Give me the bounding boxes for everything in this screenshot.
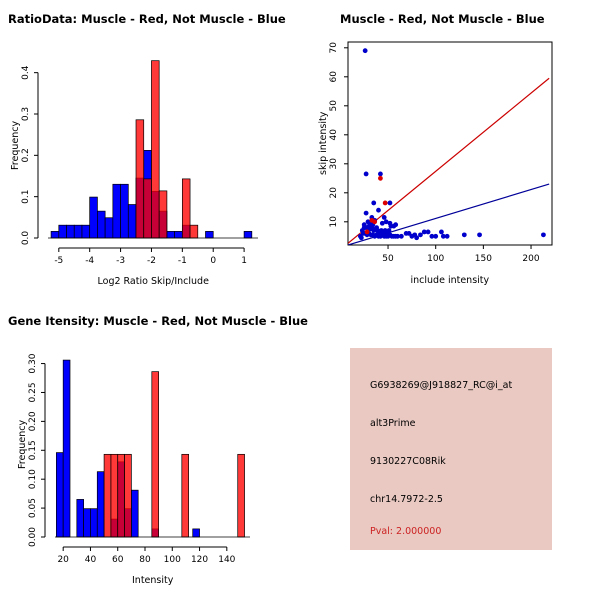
tick-label: -4 [85, 256, 94, 266]
scatter-point [387, 228, 392, 233]
scatter-canvas: 1020304050607050100150200 [300, 0, 600, 300]
scatter-point [364, 211, 369, 216]
histogram-bar [82, 225, 90, 238]
tick-label: 80 [139, 555, 151, 565]
panel-intensity-scatter: Muscle - Red, Not Muscle - Blue 10203040… [300, 0, 600, 300]
ratio-histogram-ylabel: Frequency [10, 120, 21, 169]
tick-label: 120 [191, 555, 208, 565]
histogram-bar [131, 490, 138, 537]
histogram-bar [244, 231, 252, 238]
histogram-bar [97, 472, 104, 537]
tick-label: 10 [329, 216, 339, 228]
tick-label: 0.10 [28, 469, 38, 489]
tick-label: 140 [218, 555, 235, 565]
histogram-bar [128, 205, 136, 238]
info-line-event-type: alt3Prime [370, 418, 415, 429]
tick-label: 30 [329, 158, 339, 170]
histogram-bar [182, 179, 190, 238]
tick-label: 0.4 [21, 65, 31, 80]
scatter-xlabel: include intensity [411, 275, 490, 286]
panel-ratio-histogram: RatioData: Muscle - Red, Not Muscle - Bl… [0, 0, 300, 300]
histogram-bar [74, 225, 82, 238]
tick-label: 70 [329, 42, 339, 54]
tick-label: 0.15 [28, 440, 38, 460]
tick-label: 60 [112, 555, 124, 565]
tick-label: 50 [382, 254, 394, 264]
tick-label: 0.20 [28, 411, 38, 431]
scatter-point [359, 235, 364, 240]
scatter-point [374, 225, 379, 230]
tick-label: -1 [178, 256, 187, 266]
tick-label: 20 [57, 555, 69, 565]
ratio-histogram-xlabel: Log2 Ratio Skip/Include [98, 276, 209, 287]
tick-label: 0.0 [21, 231, 31, 246]
scatter-point [433, 234, 438, 239]
tick-label: 0.00 [28, 527, 38, 547]
histogram-bar [159, 191, 167, 238]
scatter-point [360, 228, 365, 233]
histogram-bar [206, 231, 214, 238]
histogram-bar [51, 231, 59, 238]
scatter-point [541, 232, 546, 237]
tick-label: 50 [329, 100, 339, 112]
tick-label: 0.3 [21, 107, 31, 121]
tick-label: 0.1 [21, 190, 31, 204]
histogram-bar [175, 231, 183, 238]
ratio-histogram-canvas: 0.00.10.20.30.4-5-4-3-2-101 [0, 0, 300, 300]
scatter-point [362, 222, 367, 227]
histogram-bar [59, 225, 67, 238]
histogram-bar [111, 454, 118, 537]
tick-label: 0.05 [28, 498, 38, 518]
scatter-point [372, 219, 377, 224]
histogram-bar [144, 179, 152, 238]
histogram-bar [182, 454, 189, 537]
histogram-bar [193, 529, 200, 537]
histogram-bar [105, 218, 113, 238]
histogram-bar [167, 231, 175, 238]
histogram-bar [90, 197, 98, 238]
scatter-point [439, 230, 444, 235]
histogram-bar [104, 454, 111, 537]
histogram-bar [152, 372, 159, 537]
histogram-bar [56, 453, 63, 537]
tick-label: 200 [522, 254, 539, 264]
scatter-ylabel: skip intensity [318, 112, 329, 175]
tick-label: -2 [147, 256, 156, 266]
tick-label: 150 [475, 254, 492, 264]
tick-label: 1 [241, 256, 247, 266]
tick-label: 0 [210, 256, 216, 266]
scatter-point [365, 230, 370, 235]
scatter-point [363, 48, 368, 53]
info-line-probe-id: G6938269@J918827_RC@i_at [370, 380, 512, 391]
scatter-point [382, 215, 387, 220]
scatter-point [477, 232, 482, 237]
scatter-point [445, 234, 450, 239]
tick-label: -3 [116, 256, 125, 266]
histogram-bar [84, 509, 91, 537]
histogram-bar [77, 499, 84, 537]
histogram-bar [118, 454, 125, 537]
gene-histogram-xlabel: Intensity [132, 575, 173, 586]
scatter-point [364, 172, 369, 177]
regression-line [348, 78, 549, 243]
panel-gene-info: G6938269@J918827_RC@i_at alt3Prime 91302… [300, 300, 600, 600]
tick-label: 100 [427, 254, 444, 264]
histogram-bar [151, 61, 159, 238]
scatter-point [376, 208, 381, 213]
gene-info-box: G6938269@J918827_RC@i_at alt3Prime 91302… [350, 348, 552, 550]
scatter-point [367, 224, 372, 229]
tick-label: -5 [54, 256, 63, 266]
histogram-bar [63, 360, 70, 537]
tick-label: 0.2 [21, 148, 31, 162]
histogram-bar [113, 184, 121, 238]
histogram-bar [121, 184, 129, 238]
scatter-point [378, 176, 383, 181]
scatter-point [383, 201, 388, 206]
scatter-point [388, 201, 393, 206]
panel-gene-histogram: Gene Itensity: Muscle - Red, Not Muscle … [0, 300, 300, 600]
histogram-bar [190, 225, 198, 238]
histogram-bar [90, 509, 97, 537]
scatter-point [426, 230, 431, 235]
histogram-bar [67, 225, 75, 238]
scatter-point [414, 235, 419, 240]
info-line-locus: chr14.7972-2.5 [370, 494, 443, 505]
scatter-point [399, 234, 404, 239]
histogram-bar [238, 454, 245, 537]
histogram-bar [97, 211, 105, 238]
scatter-point [418, 232, 423, 237]
info-line-pval: Pval: 2.000000 [370, 526, 441, 537]
tick-label: 40 [85, 555, 97, 565]
tick-label: 20 [329, 187, 339, 199]
scatter-point [462, 232, 467, 237]
histogram-bar [125, 454, 132, 537]
tick-label: 40 [329, 129, 339, 141]
tick-label: 60 [329, 71, 339, 83]
scatter-point [393, 222, 398, 227]
histogram-bar [136, 120, 144, 238]
tick-label: 0.30 [28, 353, 38, 373]
tick-label: 100 [164, 555, 181, 565]
tick-label: 0.25 [28, 382, 38, 402]
gene-histogram-canvas: 0.000.050.100.150.200.250.30204060801001… [0, 300, 300, 600]
gene-histogram-ylabel: Frequency [17, 420, 28, 469]
scatter-point [378, 172, 383, 177]
scatter-point [371, 201, 376, 206]
info-line-gene-symbol: 9130227C08Rik [370, 456, 446, 467]
